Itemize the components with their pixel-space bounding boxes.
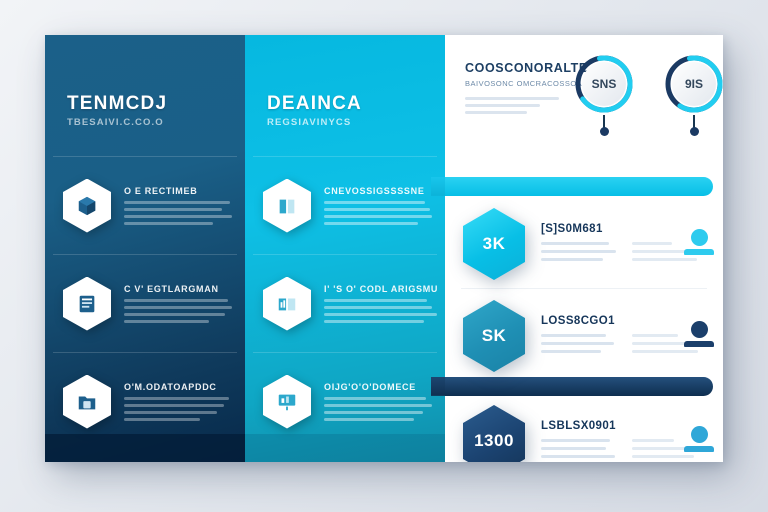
person-avatar-icon [681,229,717,255]
feature-title: I' 'S O' CODL ARIGSMU [324,284,438,294]
feature-title: OIJG'O'O'DOMECE [324,382,433,392]
book-open-icon [276,195,298,217]
stat-text-lines [541,439,618,463]
right-white-panel: COOSCONORALTE BAIVOSONC OMCRACOSSOAD SNS [445,35,723,462]
stat-badge-value: 3K [463,208,525,280]
summary-title: COOSCONORALTE [465,61,588,75]
stat-body: [S]S0M681 [541,223,723,266]
gauge-value: 9IS [663,53,723,115]
feature-row[interactable]: C V' EGTLARGMAN [45,255,245,352]
feature-title: O E RECTIMEB [124,186,233,196]
hexagon-badge [263,179,311,233]
hexagon-badge [63,179,111,233]
document-list-icon [76,293,98,315]
text-lines [324,201,433,225]
feature-text: CNEVOSSIGSSSSNE [324,186,445,225]
stat-badge-value: 1300 [463,405,525,462]
hexagon-stat-badge: SK [463,300,525,372]
person-avatar-icon [681,426,717,452]
chart-book-icon [276,293,298,315]
feature-title: O'M.ODATOAPDDC [124,382,233,392]
text-lines [124,201,233,225]
gauge-dot [690,127,699,136]
feature-title: CNEVOSSIGSSSSNE [324,186,433,196]
feature-row[interactable]: O E RECTIMEB [45,157,245,254]
summary-header: COOSCONORALTE BAIVOSONC OMCRACOSSOAD SNS [445,35,723,147]
left-column-header: TENMCDJ TBESAIVI.C.CO.O [45,35,245,155]
stat-body: LSBLSX0901 [541,420,723,463]
feature-title: C V' EGTLARGMAN [124,284,233,294]
left-column-title: TENMCDJ [67,93,167,115]
gauge-dot [600,127,609,136]
left-dark-column: TENMCDJ TBESAIVI.C.CO.O O E RECTIMEB [45,35,245,462]
column-footer-strip [45,434,245,462]
gauge-chart[interactable]: SNS [573,53,635,115]
text-lines [324,397,433,421]
feature-row[interactable]: I' 'S O' CODL ARIGSMU [245,255,445,352]
hexagon-badge [263,277,311,331]
gauge-value: SNS [573,53,635,115]
stat-row[interactable]: 3K [S]S0M681 [445,198,723,290]
mid-column-title: DEAINCA [267,93,362,115]
hexagon-stat-badge: 3K [463,208,525,280]
feature-row[interactable]: CNEVOSSIGSSSSNE [245,157,445,254]
stat-body: LOSS8CGO1 [541,315,723,358]
stat-row[interactable]: SK LOSS8CGO1 [445,290,723,382]
feature-text: OIJG'O'O'DOMECE [324,382,445,421]
hexagon-badge [63,277,111,331]
stat-row[interactable]: 1300 LSBLSX0901 [445,395,723,462]
text-lines [124,397,233,421]
feature-text: I' 'S O' CODL ARIGSMU [324,284,450,323]
mid-column-header: DEAINCA REGSIAVINYCS [245,35,445,155]
feature-text: C V' EGTLARGMAN [124,284,245,323]
presentation-icon [276,391,298,413]
column-footer-strip [245,434,445,462]
text-lines [324,299,438,323]
cube-box-icon [76,195,98,217]
infographic-card: TENMCDJ TBESAIVI.C.CO.O O E RECTIMEB [45,35,723,462]
mid-cyan-column: DEAINCA REGSIAVINYCS CNEVOSSIGSSSSNE [245,35,445,462]
hexagon-badge [63,375,111,429]
stat-text-lines [541,334,618,358]
stat-badge-value: SK [463,300,525,372]
left-column-subtitle: TBESAIVI.C.CO.O [67,117,164,128]
text-lines [124,299,233,323]
gauge-chart[interactable]: 9IS [663,53,723,115]
stat-text-lines [541,242,618,266]
hexagon-stat-badge: 1300 [463,405,525,462]
feature-text: O'M.ODATOAPDDC [124,382,245,421]
feature-text: O E RECTIMEB [124,186,245,225]
folder-box-icon [76,391,98,413]
mid-column-subtitle: REGSIAVINYCS [267,117,351,128]
ribbon-cyan [445,177,713,196]
hexagon-badge [263,375,311,429]
person-avatar-icon [681,321,717,347]
summary-subtitle: BAIVOSONC OMCRACOSSOAD [465,79,588,88]
